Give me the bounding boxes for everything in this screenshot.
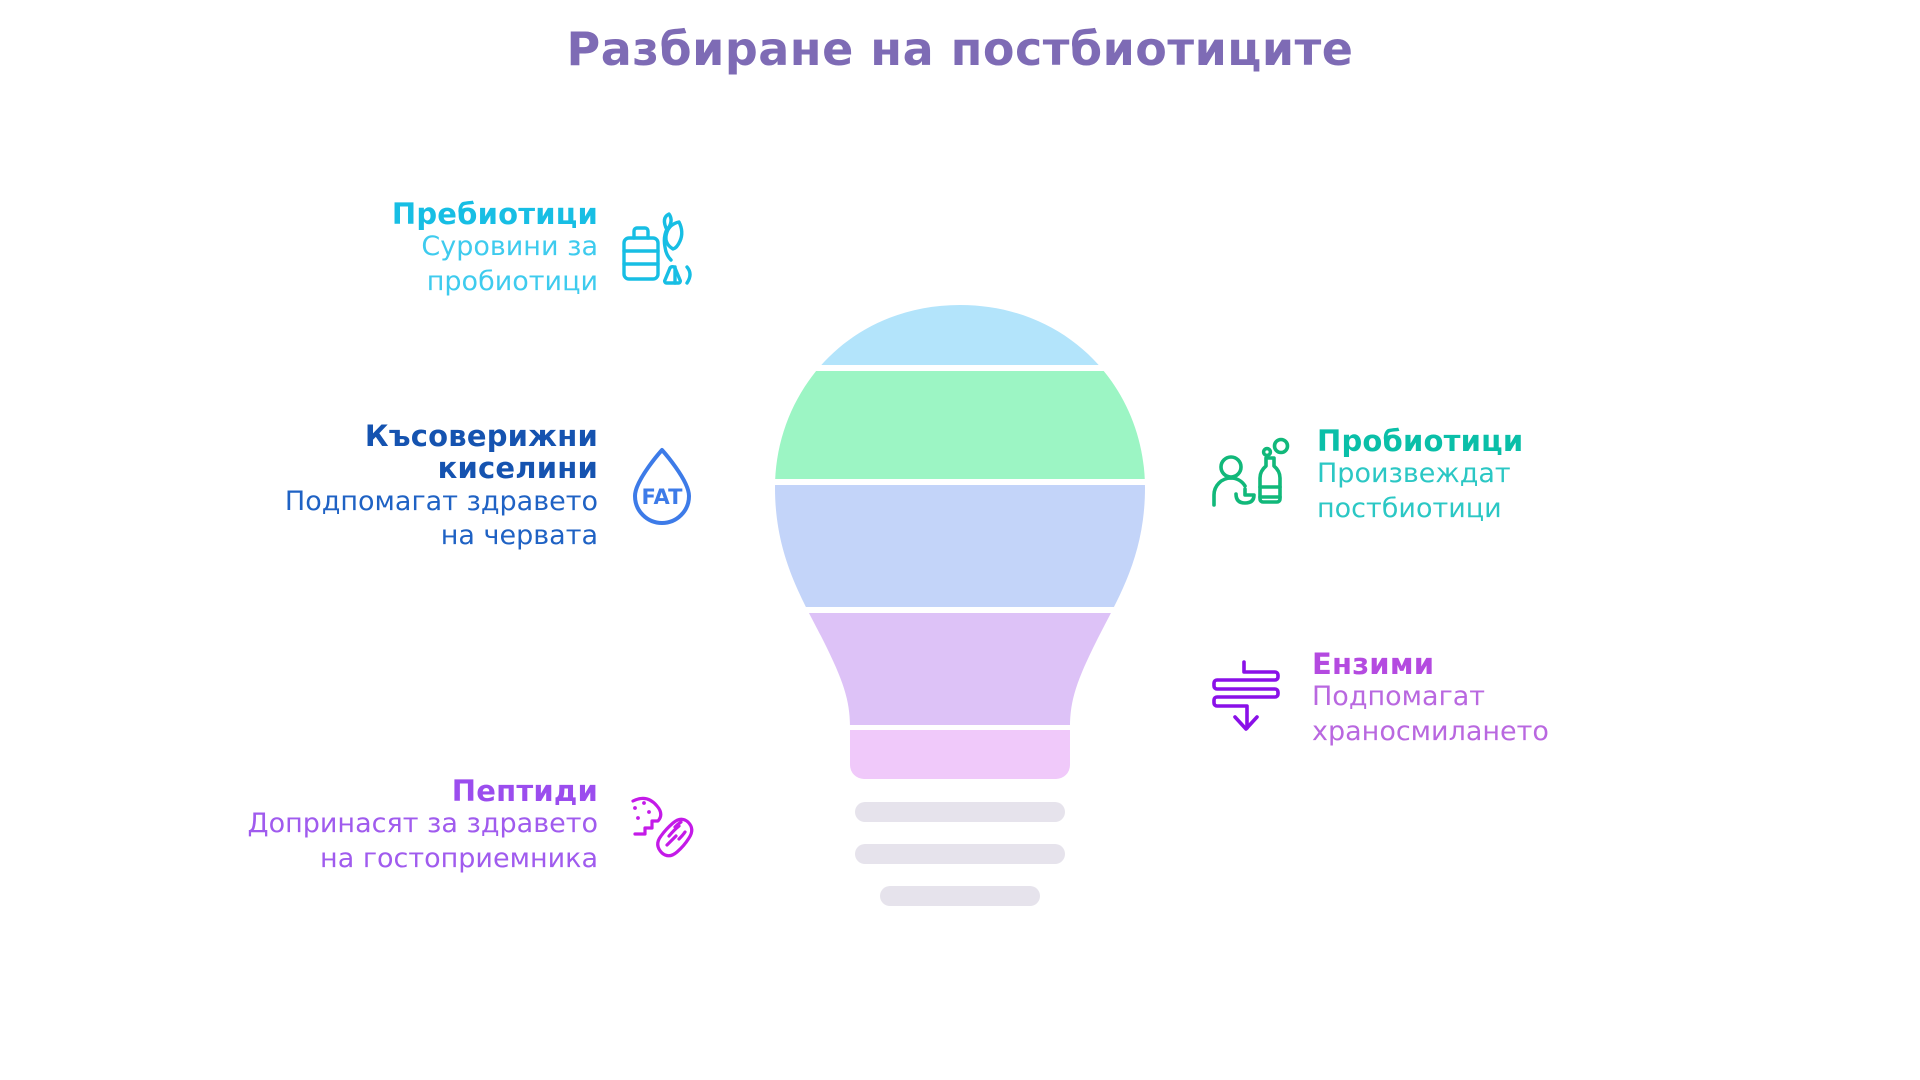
band-periwinkle — [725, 485, 1195, 607]
peptide-chain-icon — [614, 778, 710, 874]
callout-prebiotics-body: Суровини за пробиотици — [421, 230, 598, 299]
callout-scfa-heading: Късоверижни киселини — [365, 420, 598, 485]
fat-droplet-label: FAT — [642, 485, 684, 509]
postbiotics-lightbulb — [725, 295, 1195, 945]
bulb-thread-3 — [880, 886, 1040, 906]
fat-droplet-icon: FAT — [614, 439, 710, 535]
callout-probiotics-text: Пробиотици Произвеждат постбиотици — [1317, 425, 1523, 527]
callout-enzymes-heading: Ензими — [1312, 648, 1434, 680]
page-title: Разбиране на постбиотиците — [0, 22, 1920, 76]
callout-probiotics-heading: Пробиотици — [1317, 425, 1523, 457]
callout-enzymes-body: Подпомагат храносмилането — [1312, 680, 1549, 749]
zigzag-arrow-icon — [1200, 651, 1296, 747]
callout-enzymes: Ензими Подпомагат храносмилането — [1200, 648, 1820, 750]
callout-probiotics-body: Произвеждат постбиотици — [1317, 457, 1511, 526]
bulb-thread-2 — [855, 844, 1065, 864]
callout-peptides-heading: Пептиди — [452, 775, 598, 807]
callout-scfa-text: Късоверижни киселини Подпомагат здравето… — [285, 420, 598, 554]
callout-peptides-body: Допринасят за здравето на гостоприемника — [247, 807, 598, 876]
band-top-blue — [725, 295, 1195, 365]
callout-peptides-text: Пептиди Допринасят за здравето на гостоп… — [247, 775, 598, 877]
band-neck-pink — [725, 730, 1195, 840]
infographic-canvas: Разбиране на постбиотиците Пребиотици Су… — [0, 0, 1920, 1080]
bulb-thread-1 — [855, 802, 1065, 822]
jar-with-leaves-icon — [614, 201, 710, 297]
person-with-bottle-icon — [1205, 428, 1301, 524]
callout-prebiotics-heading: Пребиотици — [392, 198, 598, 230]
callout-short-chain-fatty-acids: Късоверижни киселини Подпомагат здравето… — [140, 420, 710, 554]
band-mint-green — [725, 371, 1195, 479]
callout-enzymes-text: Ензими Подпомагат храносмилането — [1312, 648, 1549, 750]
callout-probiotics: Пробиотици Произвеждат постбиотици — [1205, 425, 1825, 527]
callout-peptides: Пептиди Допринасят за здравето на гостоп… — [130, 775, 710, 877]
callout-prebiotics-text: Пребиотици Суровини за пробиотици — [392, 198, 598, 300]
band-lavender — [725, 613, 1195, 725]
callout-prebiotics: Пребиотици Суровини за пробиотици — [180, 198, 710, 300]
callout-scfa-body: Подпомагат здравето на червата — [285, 485, 598, 554]
